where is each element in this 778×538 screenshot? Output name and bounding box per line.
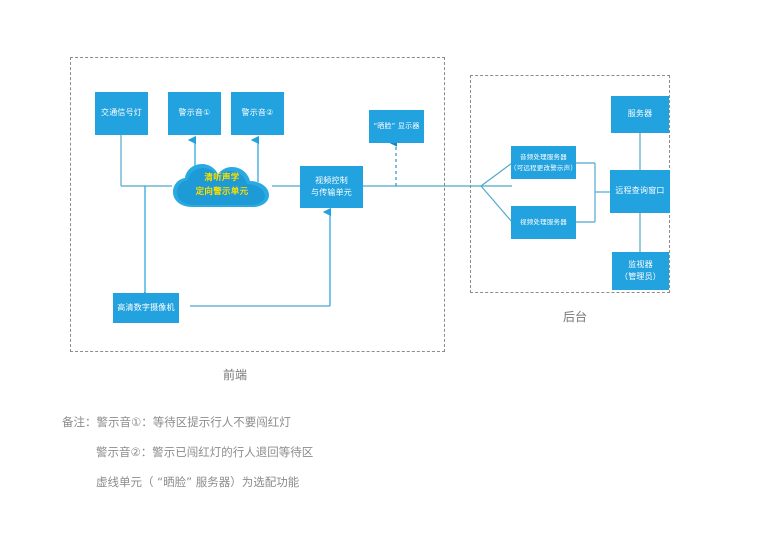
- node-audio-server[interactable]: 音频处理服务器 （可远程更改警示声）: [511, 146, 576, 179]
- node-audio-server-line1: 音频处理服务器: [520, 152, 567, 162]
- node-face-display[interactable]: “晒脸” 显示器: [369, 110, 424, 143]
- node-acoustic-unit-text: 清听声学 定向警示单元: [170, 163, 274, 209]
- node-video-server-label: 视频处理服务器: [520, 217, 567, 227]
- node-face-display-label: “晒脸” 显示器: [373, 121, 419, 132]
- node-server[interactable]: 服务器: [611, 96, 669, 133]
- node-hd-camera[interactable]: 高清数字摄像机: [113, 293, 179, 323]
- node-hd-camera-label: 高清数字摄像机: [117, 302, 174, 314]
- zone-frontend-label: 前端: [205, 366, 265, 383]
- zone-backend-label: 后台: [545, 308, 605, 325]
- node-remote-query-window-label: 远程查询窗口: [615, 185, 664, 197]
- node-monitor-line2: （管理员）: [620, 271, 661, 283]
- notes-block: 备注：警示音①：等待区提示行人不要闯红灯 警示音②：警示已闯红灯的行人退回等待区…: [62, 408, 313, 498]
- note-line-3: 虚线单元（ “晒脸” 服务器）为选配功能: [62, 468, 313, 498]
- node-traffic-light-label: 交通信号灯: [101, 107, 142, 119]
- note-line-2: 警示音②：警示已闯红灯的行人退回等待区: [62, 438, 313, 468]
- node-video-control-unit-line2: 与传输单元: [311, 187, 352, 199]
- node-warning-sound-1[interactable]: 警示音①: [168, 92, 221, 135]
- node-warning-sound-2[interactable]: 警示音②: [231, 92, 284, 135]
- node-warning-sound-2-label: 警示音②: [242, 107, 274, 119]
- node-warning-sound-1-label: 警示音①: [179, 107, 211, 119]
- node-monitor[interactable]: 监视器 （管理员）: [612, 252, 669, 290]
- node-monitor-line1: 监视器: [628, 259, 653, 271]
- node-acoustic-unit[interactable]: 清听声学 定向警示单元: [170, 163, 274, 209]
- node-acoustic-unit-line2: 定向警示单元: [196, 186, 249, 200]
- note-line-1: 备注：警示音①：等待区提示行人不要闯红灯: [62, 408, 313, 438]
- node-video-control-unit[interactable]: 视频控制 与传输单元: [300, 166, 363, 208]
- node-video-server[interactable]: 视频处理服务器: [511, 206, 576, 239]
- node-audio-server-line2: （可远程更改警示声）: [510, 163, 577, 173]
- diagram-canvas: 前端 后台 交通信号灯 警示音① 警示音② “晒脸” 显示器 清听声学 定向警示…: [0, 0, 778, 538]
- node-server-label: 服务器: [628, 108, 653, 120]
- node-remote-query-window[interactable]: 远程查询窗口: [610, 170, 670, 213]
- node-video-control-unit-line1: 视频控制: [315, 175, 348, 187]
- node-traffic-light[interactable]: 交通信号灯: [95, 92, 148, 135]
- node-acoustic-unit-line1: 清听声学: [204, 172, 239, 186]
